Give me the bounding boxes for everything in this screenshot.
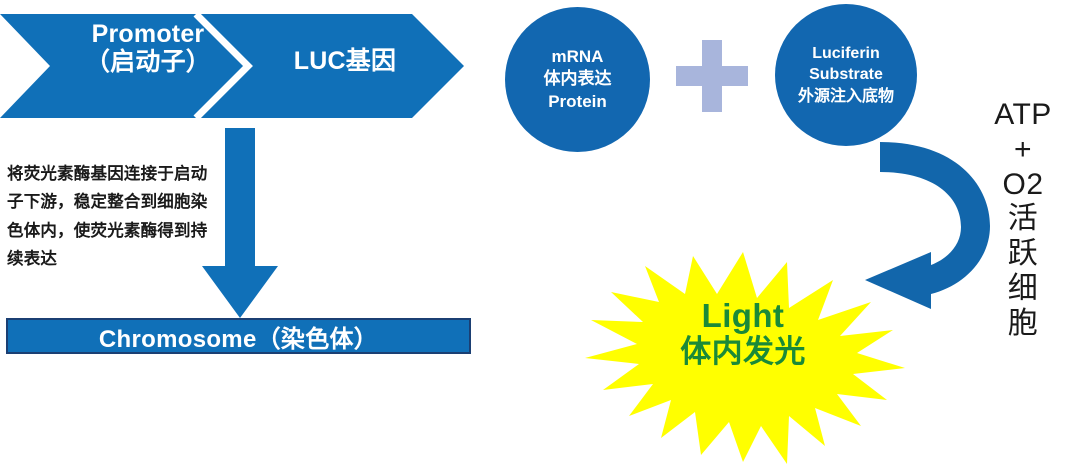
integration-down-arrow — [198, 128, 282, 318]
cofactor-line-huo: 活 — [978, 202, 1068, 237]
chromosome-label: Chromosome（染色体） — [99, 319, 378, 354]
plus-shape — [676, 40, 748, 112]
cofactor-line-o2: O2 — [978, 168, 1068, 203]
cofactor-line-plus: + — [978, 133, 1068, 168]
luciferin-substrate-circle: Luciferin Substrate 外源注入底物 — [775, 4, 917, 146]
diagram-canvas: Promoter （启动子） LUC基因 将荧光素酶基因连接于启动子下游，稳定整… — [0, 0, 1080, 465]
starburst-icon — [575, 250, 905, 465]
light-burst-shape — [575, 250, 905, 465]
promoter-segment-label: Promoter （启动子） — [48, 20, 248, 76]
integration-description-text: 将荧光素酶基因连接于启动子下游，稳定整合到细胞染色体内，使荧光素酶得到持续表达 — [7, 160, 212, 274]
cofactor-stack: ATP + O2 活 跃 细 胞 — [978, 98, 1068, 342]
cofactor-line-bao: 胞 — [978, 307, 1068, 342]
luc-gene-segment-label: LUC基因 — [255, 47, 435, 75]
cofactor-line-atp: ATP — [978, 98, 1068, 133]
mrna-protein-circle: mRNA 体内表达 Protein — [505, 7, 650, 152]
arrow-down-icon — [198, 128, 282, 318]
cofactor-line-xi: 细 — [978, 272, 1068, 307]
plus-icon — [676, 40, 748, 112]
chromosome-bar: Chromosome（染色体） — [6, 318, 471, 354]
cofactor-line-yue: 跃 — [978, 237, 1068, 272]
